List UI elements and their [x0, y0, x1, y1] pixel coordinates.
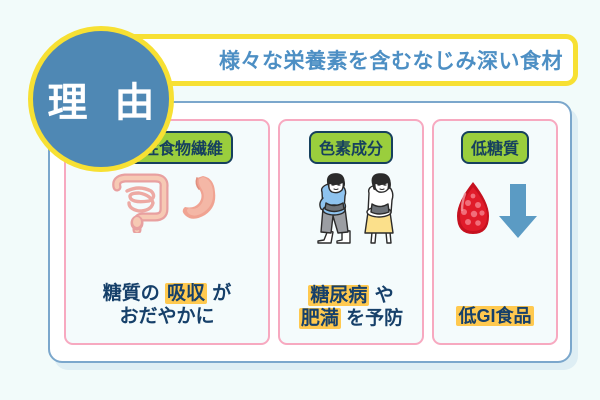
caption-text: が [207, 283, 231, 304]
caption-line: 糖質の 吸収 が [103, 282, 232, 306]
reason-circle-label: 理 由 [39, 70, 162, 128]
caption-text: や [369, 285, 393, 306]
card-lowsugar-caption: 低GI食品 [456, 305, 533, 328]
caption-line: 糖尿病 や [299, 284, 403, 308]
caption-highlight: 糖尿病 [308, 285, 369, 306]
caption-line: おだやかに [103, 305, 232, 329]
card-lowsugar-badge: 低糖質 [461, 131, 529, 164]
reason-circle-badge: 理 由 [28, 26, 174, 172]
caption-line: 肥満 を予防 [299, 307, 403, 331]
caption-highlight: 肥満 [299, 308, 341, 329]
card-pigment-badge: 色素成分 [309, 131, 393, 164]
intestine-stomach-icon [109, 172, 225, 234]
card-pigment: 色素成分 [278, 119, 424, 345]
card-fiber-caption: 糖質の 吸収 が おだやかに [103, 282, 232, 330]
caption-text: おだやかに [119, 306, 214, 327]
caption-highlight: 吸収 [165, 283, 207, 304]
header-banner: 様々な栄養素を含むなじみ深い食材 [110, 34, 578, 86]
header-title: 様々な栄養素を含むなじみ深い食材 [219, 45, 563, 75]
caption-text: を予防 [341, 308, 403, 329]
caption-text: 糖質の [103, 283, 165, 304]
overweight-couple-icon [298, 170, 404, 244]
caption-highlight: 低GI食品 [456, 306, 533, 326]
blood-drop-down-arrow-icon [447, 178, 543, 244]
card-pigment-caption: 糖尿病 や 肥満 を予防 [299, 284, 403, 332]
caption-line: 低GI食品 [456, 305, 533, 328]
card-lowsugar: 低糖質 [432, 119, 558, 345]
